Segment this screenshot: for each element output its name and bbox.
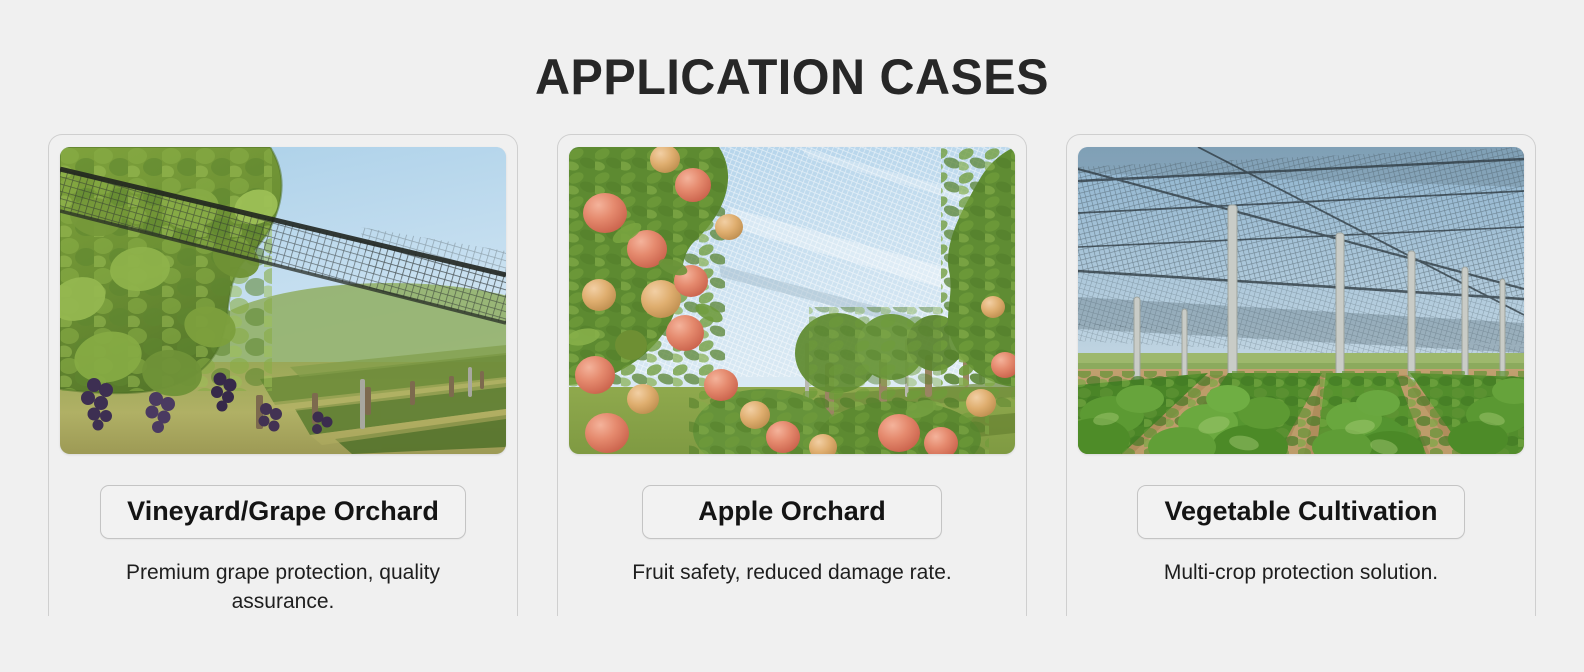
application-cases-section: APPLICATION CASES xyxy=(0,0,1584,672)
case-description-vegetable: Multi-crop protection solution. xyxy=(1105,558,1497,587)
vegetable-cultivation-illustration xyxy=(1078,147,1524,454)
case-card-vineyard[interactable]: Vineyard/Grape Orchard Premium grape pro… xyxy=(48,134,518,616)
case-label-apple[interactable]: Apple Orchard xyxy=(642,485,942,539)
case-description-vineyard: Premium grape protection, quality assura… xyxy=(87,558,479,616)
case-card-apple[interactable]: Apple Orchard Fruit safety, reduced dama… xyxy=(557,134,1027,616)
page-title: APPLICATION CASES xyxy=(24,46,1560,108)
cards-row: Vineyard/Grape Orchard Premium grape pro… xyxy=(48,134,1536,616)
apple-orchard-photo xyxy=(569,147,1015,454)
case-label-vineyard[interactable]: Vineyard/Grape Orchard xyxy=(100,485,466,539)
case-label-vegetable[interactable]: Vegetable Cultivation xyxy=(1137,485,1464,539)
vegetable-cultivation-photo xyxy=(1078,147,1524,454)
case-card-vegetable[interactable]: Vegetable Cultivation Multi-crop protect… xyxy=(1066,134,1536,616)
vineyard-grape-orchard-photo xyxy=(60,147,506,454)
apple-orchard-illustration xyxy=(569,147,1015,454)
case-description-apple: Fruit safety, reduced damage rate. xyxy=(596,558,988,587)
vineyard-illustration xyxy=(60,147,506,454)
